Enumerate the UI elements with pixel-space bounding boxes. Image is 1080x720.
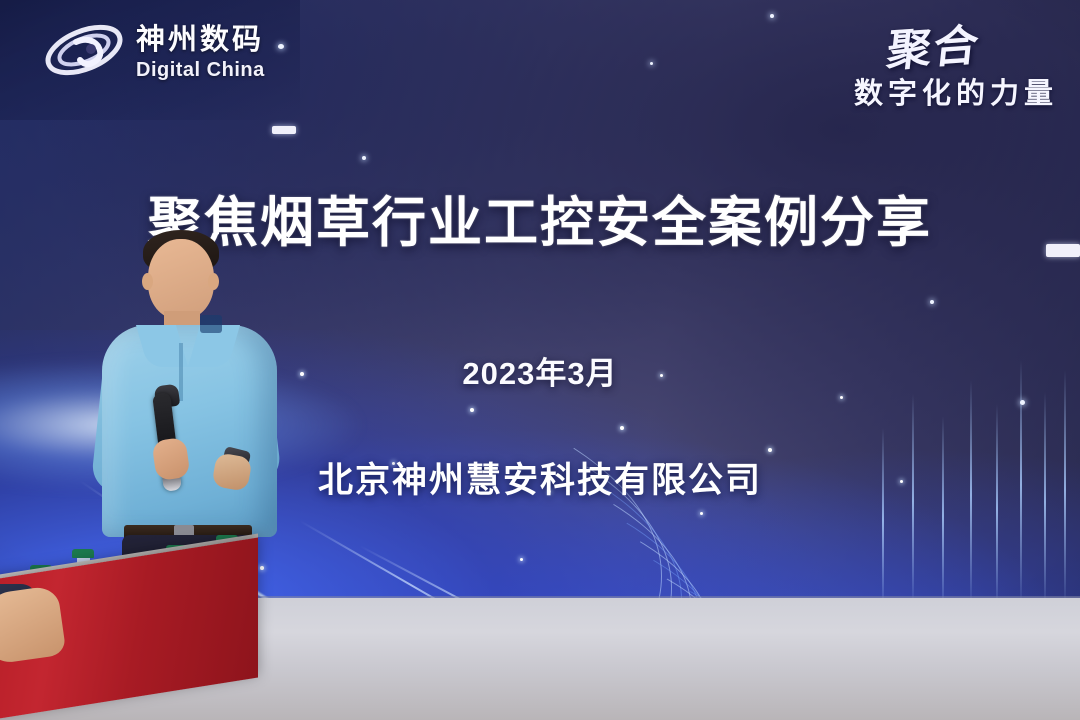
screen-star-e bbox=[930, 300, 934, 304]
screen-accent-bar-left bbox=[272, 126, 296, 134]
conference-stage-photo: 神州数码 Digital China 聚合 数字化的力量 聚焦烟草行业工控安全案… bbox=[0, 0, 1080, 720]
event-slogan: 聚合 数字化的力量 bbox=[854, 12, 1058, 112]
presenter-ear-left bbox=[142, 273, 153, 290]
presenter-shirt-placket bbox=[179, 343, 183, 401]
brand-logo: 神州数码 Digital China bbox=[42, 16, 265, 86]
screen-star-c bbox=[770, 14, 774, 18]
screen-star-d bbox=[650, 62, 653, 65]
brand-logo-text: 神州数码 Digital China bbox=[136, 22, 265, 80]
presenter-shirt-logo-icon bbox=[200, 315, 222, 333]
presenter-head bbox=[148, 239, 214, 319]
presenter-ear-right bbox=[208, 273, 219, 290]
screen-star-b bbox=[362, 156, 366, 160]
seated-person-hands bbox=[0, 585, 66, 665]
brand-name-cn: 神州数码 bbox=[136, 26, 265, 55]
presenter-polo-shirt bbox=[102, 325, 277, 537]
screen-star-f bbox=[1020, 400, 1025, 405]
slogan-brush-text: 聚合 bbox=[884, 9, 984, 79]
digital-china-swirl-icon bbox=[42, 16, 126, 86]
screen-star-a bbox=[278, 44, 284, 49]
brand-name-en: Digital China bbox=[136, 60, 265, 80]
